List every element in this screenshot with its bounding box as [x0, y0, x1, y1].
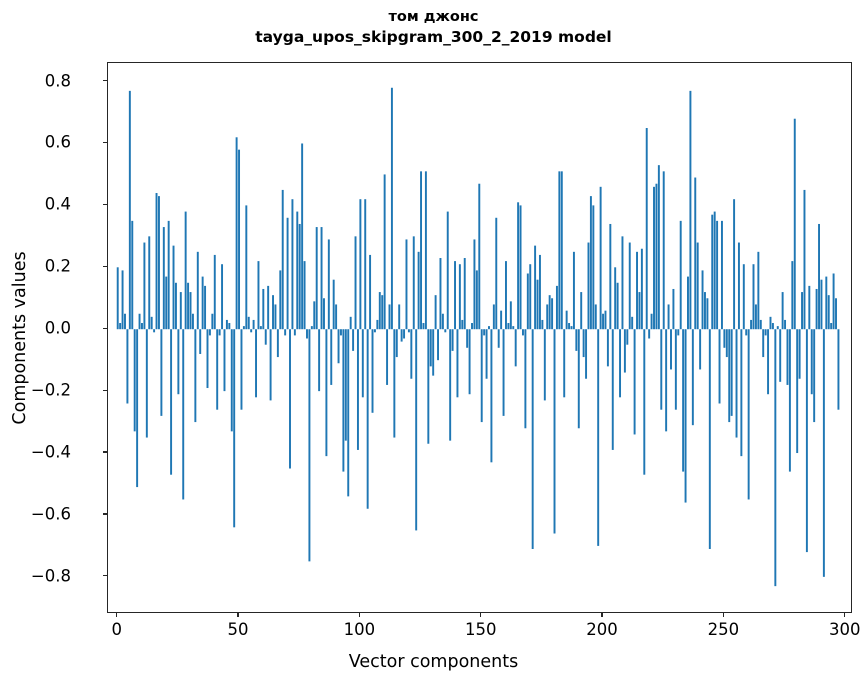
bar: [406, 239, 408, 329]
bar: [592, 205, 594, 329]
bar: [117, 267, 119, 329]
bar: [605, 311, 607, 330]
bar: [636, 252, 638, 329]
bar: [262, 289, 264, 329]
bar: [153, 329, 155, 332]
bar: [806, 329, 808, 552]
bar: [306, 329, 308, 338]
bar: [811, 329, 813, 394]
x-axis-label: Vector components: [0, 652, 867, 672]
bar: [207, 329, 209, 388]
bar: [612, 329, 614, 450]
bar: [600, 187, 602, 329]
bar: [342, 329, 344, 471]
bar: [687, 277, 689, 330]
bar: [233, 329, 235, 527]
bar: [719, 329, 721, 403]
bar: [197, 252, 199, 329]
bar: [762, 329, 764, 357]
bar: [221, 264, 223, 329]
x-tick-label: 100: [344, 620, 376, 639]
bar: [634, 329, 636, 434]
bar: [515, 329, 517, 366]
y-tick-label: −0.4: [31, 443, 71, 462]
bar: [510, 301, 512, 329]
bar: [726, 329, 728, 357]
bar: [490, 329, 492, 462]
x-tick-label: 250: [708, 620, 740, 639]
bar: [359, 199, 361, 329]
bar: [437, 329, 439, 360]
bar: [668, 304, 670, 329]
bar: [784, 320, 786, 329]
bar: [486, 329, 488, 379]
bar: [651, 314, 653, 329]
bar: [466, 329, 468, 348]
bar: [478, 184, 480, 329]
bar: [607, 329, 609, 366]
bar: [401, 329, 403, 341]
bar: [279, 270, 281, 329]
bar: [224, 329, 226, 391]
bar: [641, 249, 643, 329]
bar: [799, 329, 801, 379]
bar: [190, 292, 192, 329]
bar: [328, 239, 330, 329]
bar: [432, 329, 434, 375]
bar: [236, 137, 238, 329]
y-tick-label: −0.2: [31, 381, 71, 400]
bar: [403, 329, 405, 338]
bar: [122, 270, 124, 329]
bar: [757, 252, 759, 329]
bar: [655, 184, 657, 329]
bar: [321, 227, 323, 329]
bar: [284, 329, 286, 335]
bar: [444, 329, 446, 332]
bar: [670, 329, 672, 369]
bar: [177, 329, 179, 394]
bar: [779, 329, 781, 382]
bar: [442, 314, 444, 329]
x-tick-label: 300: [829, 620, 861, 639]
bar: [631, 317, 633, 329]
bar: [439, 258, 441, 329]
bar: [558, 171, 560, 329]
bar: [755, 304, 757, 329]
bar: [257, 261, 259, 329]
bar: [158, 196, 160, 329]
bar: [721, 221, 723, 329]
bar: [621, 236, 623, 329]
bar: [204, 286, 206, 329]
y-tick-label: 0.6: [45, 133, 71, 152]
x-tick-label: 200: [586, 620, 618, 639]
bar: [265, 329, 267, 344]
bar: [459, 264, 461, 329]
bar: [689, 91, 691, 329]
bar: [588, 243, 590, 330]
bar: [731, 329, 733, 416]
bar: [551, 298, 553, 329]
bar: [476, 270, 478, 329]
bar: [333, 280, 335, 330]
bar: [355, 236, 357, 329]
x-tick-label: 0: [111, 620, 122, 639]
bar: [410, 329, 412, 379]
bar: [495, 218, 497, 329]
bar: [534, 246, 536, 330]
y-axis-label-wrap: Components values: [28, 0, 29, 696]
bar: [503, 329, 505, 416]
bar: [794, 119, 796, 329]
bar: [423, 323, 425, 329]
bar: [452, 329, 454, 351]
bar: [808, 286, 810, 329]
bar: [119, 323, 121, 329]
bar: [415, 329, 417, 530]
bar: [665, 329, 667, 431]
bar: [660, 329, 662, 409]
bar: [837, 329, 839, 409]
bar: [709, 329, 711, 549]
bar: [274, 304, 276, 329]
bar: [447, 212, 449, 330]
bar: [782, 292, 784, 329]
bar: [760, 320, 762, 329]
bar: [454, 261, 456, 329]
bar: [629, 243, 631, 330]
bar: [163, 227, 165, 329]
bar: [767, 329, 769, 394]
bar: [801, 292, 803, 329]
bar: [597, 329, 599, 546]
bar: [580, 292, 582, 329]
bar: [250, 329, 252, 332]
bar: [248, 317, 250, 329]
bar: [369, 255, 371, 329]
bar: [173, 246, 175, 330]
bar: [134, 329, 136, 431]
y-tick-label: 0.8: [45, 71, 71, 90]
bar: [129, 91, 131, 329]
bar: [728, 329, 730, 422]
bar: [216, 329, 218, 409]
bar-series: [108, 63, 851, 612]
bar: [733, 199, 735, 329]
bar: [643, 329, 645, 474]
bar: [449, 329, 451, 440]
chart-title-line2: tayga_upos_skipgram_300_2_2019 model: [0, 27, 867, 48]
bar: [289, 329, 291, 468]
bar: [272, 295, 274, 329]
bar: [813, 329, 815, 422]
bar: [505, 261, 507, 329]
bar: [367, 329, 369, 509]
bar: [148, 236, 150, 329]
bar: [413, 236, 415, 329]
bar: [418, 252, 420, 329]
bar: [738, 243, 740, 330]
y-axis-label: Components values: [10, 251, 30, 424]
bar: [231, 329, 233, 431]
bar: [804, 190, 806, 329]
bar: [253, 320, 255, 329]
bar: [748, 329, 750, 499]
bar: [245, 205, 247, 329]
bar: [520, 205, 522, 329]
bar: [267, 286, 269, 329]
bar: [435, 295, 437, 329]
bar: [143, 243, 145, 330]
bar: [187, 283, 189, 329]
bar: [740, 329, 742, 456]
bar: [500, 311, 502, 330]
bar: [563, 329, 565, 397]
bar: [663, 171, 665, 329]
bar: [498, 329, 500, 348]
bar: [680, 221, 682, 329]
bar: [626, 329, 628, 344]
bar: [141, 323, 143, 329]
bar: [384, 174, 386, 329]
bar: [352, 329, 354, 351]
bar: [646, 128, 648, 329]
bar: [364, 199, 366, 329]
bar: [507, 323, 509, 329]
bar: [299, 224, 301, 329]
bar: [568, 323, 570, 329]
bar: [146, 329, 148, 437]
bar: [765, 329, 767, 335]
bar: [835, 298, 837, 329]
x-tick-label: 150: [465, 620, 497, 639]
bar: [165, 277, 167, 330]
y-tick-label: 0.2: [45, 257, 71, 276]
plot-area: [108, 63, 851, 612]
bar: [260, 326, 262, 329]
bar: [316, 227, 318, 329]
bar: [750, 320, 752, 329]
bar: [199, 329, 201, 354]
bar: [772, 323, 774, 329]
bar: [774, 329, 776, 586]
bar: [585, 329, 587, 379]
bar: [481, 329, 483, 422]
chart-title: том джонс tayga_upos_skipgram_300_2_2019…: [0, 8, 867, 48]
x-tick-label: 50: [228, 620, 249, 639]
bar: [818, 224, 820, 329]
bar: [209, 329, 211, 335]
bar: [614, 267, 616, 329]
bar: [658, 165, 660, 329]
bar: [228, 323, 230, 329]
bar: [777, 326, 779, 329]
bar: [192, 314, 194, 329]
bar: [473, 239, 475, 329]
bar: [238, 150, 240, 330]
bar: [301, 143, 303, 329]
bar: [304, 261, 306, 329]
bar: [619, 329, 621, 397]
bar: [694, 178, 696, 330]
bar: [716, 221, 718, 329]
bar: [270, 329, 272, 400]
bar: [682, 329, 684, 471]
bar: [590, 196, 592, 329]
bar: [648, 329, 650, 338]
bar: [357, 329, 359, 450]
bar: [182, 329, 184, 499]
bar: [226, 320, 228, 329]
bar: [770, 317, 772, 329]
bar: [160, 329, 162, 416]
bar: [277, 329, 279, 357]
bar: [595, 304, 597, 329]
bar: [638, 292, 640, 329]
bar: [311, 326, 313, 329]
bar: [318, 329, 320, 391]
bar: [483, 329, 485, 335]
bar: [219, 329, 221, 335]
bar: [124, 314, 126, 329]
bar: [529, 264, 531, 329]
bar: [420, 171, 422, 329]
bar: [723, 329, 725, 348]
bar: [325, 329, 327, 456]
matplotlib-figure: том джонс tayga_upos_skipgram_300_2_2019…: [0, 0, 867, 696]
bar: [549, 295, 551, 329]
bar: [704, 292, 706, 329]
bar: [743, 264, 745, 329]
bar: [544, 329, 546, 400]
bar: [372, 329, 374, 413]
bar: [461, 320, 463, 329]
bar: [296, 212, 298, 330]
bar: [532, 329, 534, 549]
bar: [512, 326, 514, 329]
bar: [524, 329, 526, 428]
bar: [602, 314, 604, 329]
bar: [711, 215, 713, 330]
bar: [347, 329, 349, 496]
bar: [379, 292, 381, 329]
bar: [282, 190, 284, 329]
bar: [139, 314, 141, 329]
bar: [255, 329, 257, 397]
bar: [469, 329, 471, 394]
bar: [796, 329, 798, 453]
bar: [714, 212, 716, 330]
bar: [617, 283, 619, 329]
bar: [335, 304, 337, 329]
bar: [488, 326, 490, 329]
y-tick-label: −0.6: [31, 504, 71, 523]
bar: [126, 329, 128, 403]
bar: [408, 329, 410, 332]
bar: [820, 280, 822, 330]
bar: [609, 224, 611, 329]
bar: [185, 212, 187, 330]
chart-title-line1: том джонс: [0, 8, 867, 27]
bar: [381, 295, 383, 329]
bar: [702, 270, 704, 329]
bar: [493, 304, 495, 329]
bar: [291, 199, 293, 329]
bar: [685, 329, 687, 502]
bar: [386, 329, 388, 385]
bar: [308, 329, 310, 561]
bar: [825, 277, 827, 330]
bar: [706, 298, 708, 329]
bar: [517, 202, 519, 329]
bar: [753, 264, 755, 329]
bar: [830, 323, 832, 329]
bar: [340, 329, 342, 335]
bar: [350, 317, 352, 329]
bar: [471, 323, 473, 329]
bar: [675, 329, 677, 409]
bar: [624, 329, 626, 372]
bar: [211, 314, 213, 329]
bar: [151, 317, 153, 329]
bar: [175, 283, 177, 329]
bar: [541, 320, 543, 329]
bar: [789, 329, 791, 471]
bar: [653, 187, 655, 329]
bar: [556, 286, 558, 329]
bar: [787, 329, 789, 385]
bar: [376, 320, 378, 329]
bar: [828, 295, 830, 329]
bar: [833, 273, 835, 329]
bar: [571, 326, 573, 329]
bar: [554, 329, 556, 533]
bar: [427, 329, 429, 444]
bar: [294, 329, 296, 335]
bar: [566, 311, 568, 330]
plot-axes: [107, 62, 852, 613]
bar: [578, 329, 580, 428]
bar: [393, 329, 395, 437]
bar: [816, 289, 818, 329]
bar: [180, 292, 182, 329]
bar: [546, 304, 548, 329]
bar: [214, 255, 216, 329]
bar: [736, 329, 738, 437]
bar: [194, 329, 196, 422]
bar: [677, 329, 679, 335]
bar: [575, 329, 577, 351]
bar: [456, 329, 458, 397]
bar: [583, 329, 585, 357]
bar: [745, 329, 747, 335]
y-tick-label: −0.8: [31, 566, 71, 585]
bar: [539, 255, 541, 329]
bar: [430, 329, 432, 366]
bar: [136, 329, 138, 487]
bar: [391, 88, 393, 329]
bar: [425, 171, 427, 329]
bar: [374, 329, 376, 332]
y-tick-label: 0.0: [45, 319, 71, 338]
bar: [464, 258, 466, 329]
bar: [170, 329, 172, 474]
bar: [156, 193, 158, 329]
y-tick-label: 0.4: [45, 195, 71, 214]
bar: [168, 221, 170, 329]
bar: [131, 221, 133, 329]
